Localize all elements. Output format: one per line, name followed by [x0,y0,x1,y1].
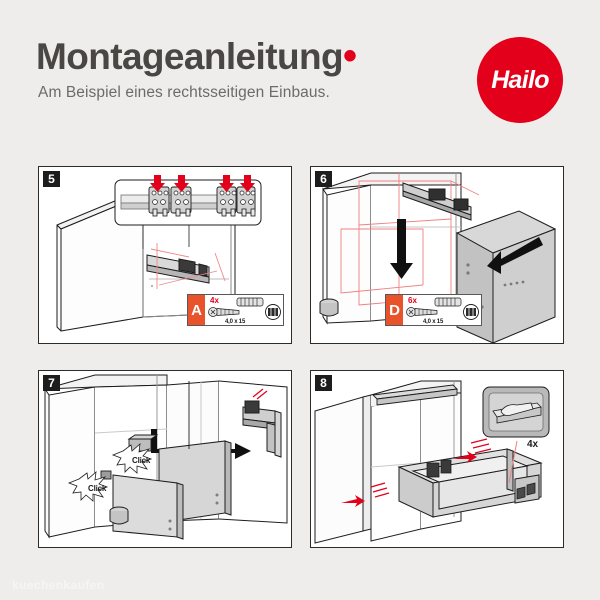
step-panel-6: 6 [310,166,564,344]
hardware-letter: A [188,295,205,325]
detail-inset [483,387,549,437]
watermark: kuechenkaufen [12,578,105,592]
panel-8-illustration [311,371,563,547]
hailo-logo-text: Hailo [491,66,549,95]
quantity-label-4x: 4x [527,439,538,450]
dowel-icon [237,298,263,306]
step-panel-7: 7 [38,370,292,548]
instruction-sheet: Montageanleitung• Am Beispiel eines rech… [0,0,600,600]
step-badge-8: 8 [315,375,332,391]
panel-7-illustration [39,371,291,547]
hailo-logo: Hailo [477,37,563,123]
dowel-icon [435,298,461,306]
bit-icon [464,305,479,320]
step-badge-5: 5 [43,171,60,187]
step-badge-7: 7 [43,375,60,391]
step-panel-5: 5 [38,166,292,344]
step-panel-grid: 5 [38,166,564,558]
click-label-1: Click [132,456,150,465]
title-accent-dot: • [343,34,356,78]
page-title-text: Montageanleitung [36,36,343,77]
click-label-2: Click [88,484,106,493]
hardware-chip-d: D 6x 4,0 x 15 [385,294,482,326]
hardware-letter: D [386,295,403,325]
screw-icon [407,308,438,317]
hardware-body: 4x 4,0 x 15 [205,295,283,325]
step-badge-6: 6 [315,171,332,187]
step-panel-8: 8 [310,370,564,548]
screw-icon [209,308,240,317]
bit-icon [266,305,281,320]
hardware-body: 6x 4,0 x 15 [403,295,481,325]
hardware-chip-a: A 4x 4,0 x 15 [187,294,284,326]
